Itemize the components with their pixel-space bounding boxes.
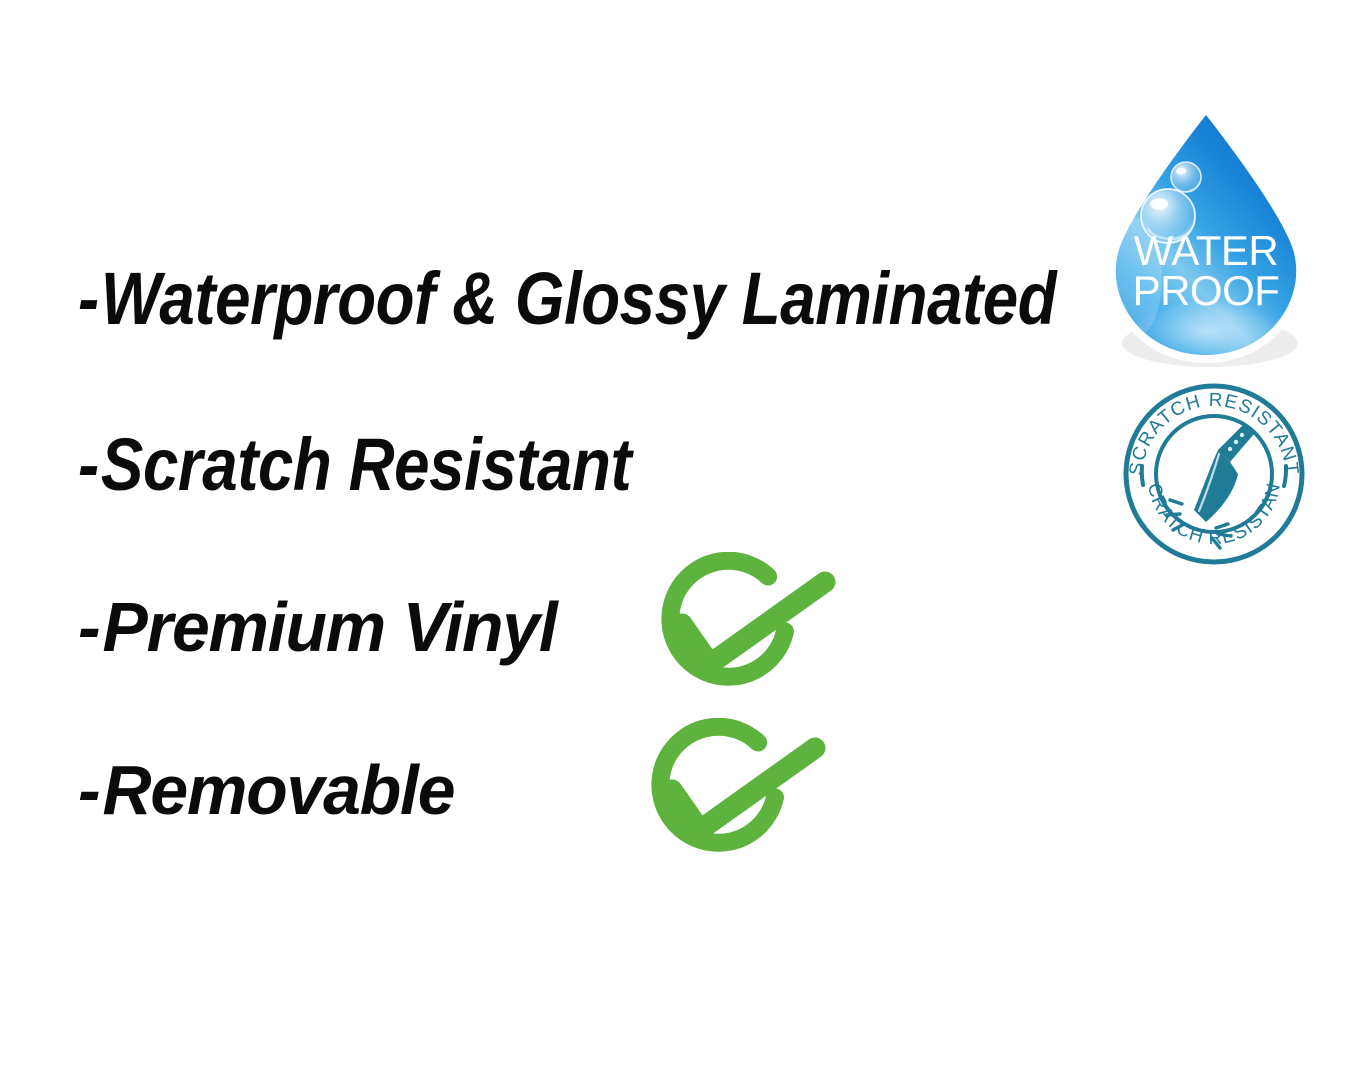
feature-item-removable: -Removable bbox=[78, 755, 454, 825]
feature-dash-2: - bbox=[78, 423, 101, 506]
scratch-resistant-stamp-badge: SCRATCH RESISTANT SCRATCH RESISTANT bbox=[1118, 382, 1310, 566]
green-check-circle-2 bbox=[628, 718, 828, 883]
waterproof-droplet-badge: WATER PROOF bbox=[1102, 103, 1312, 369]
feature-dash-1: - bbox=[78, 257, 101, 340]
feature-label-1: Waterproof & Glossy Laminated bbox=[101, 257, 1056, 340]
green-check-circle-1 bbox=[638, 552, 838, 717]
check-tick-1 bbox=[682, 582, 825, 664]
feature-label-4: Removable bbox=[103, 751, 455, 829]
feature-list: -Waterproof & Glossy Laminated -Scratch … bbox=[0, 0, 1100, 1080]
product-features-graphic: -Waterproof & Glossy Laminated -Scratch … bbox=[0, 0, 1359, 1080]
feature-label-3: Premium Vinyl bbox=[103, 588, 557, 666]
feature-item-scratch-resistant: -Scratch Resistant bbox=[78, 428, 631, 502]
knife-icon bbox=[1194, 424, 1254, 522]
feature-dash-3: - bbox=[78, 588, 103, 666]
check-tick-2 bbox=[672, 748, 815, 830]
droplet-text-proof: PROOF bbox=[1133, 267, 1280, 314]
feature-dash-4: - bbox=[78, 751, 103, 829]
water-bubble-small bbox=[1171, 162, 1201, 192]
feature-label-2: Scratch Resistant bbox=[101, 423, 631, 506]
feature-item-premium-vinyl: -Premium Vinyl bbox=[78, 592, 557, 662]
feature-item-waterproof-glossy-laminated: -Waterproof & Glossy Laminated bbox=[78, 262, 1056, 336]
